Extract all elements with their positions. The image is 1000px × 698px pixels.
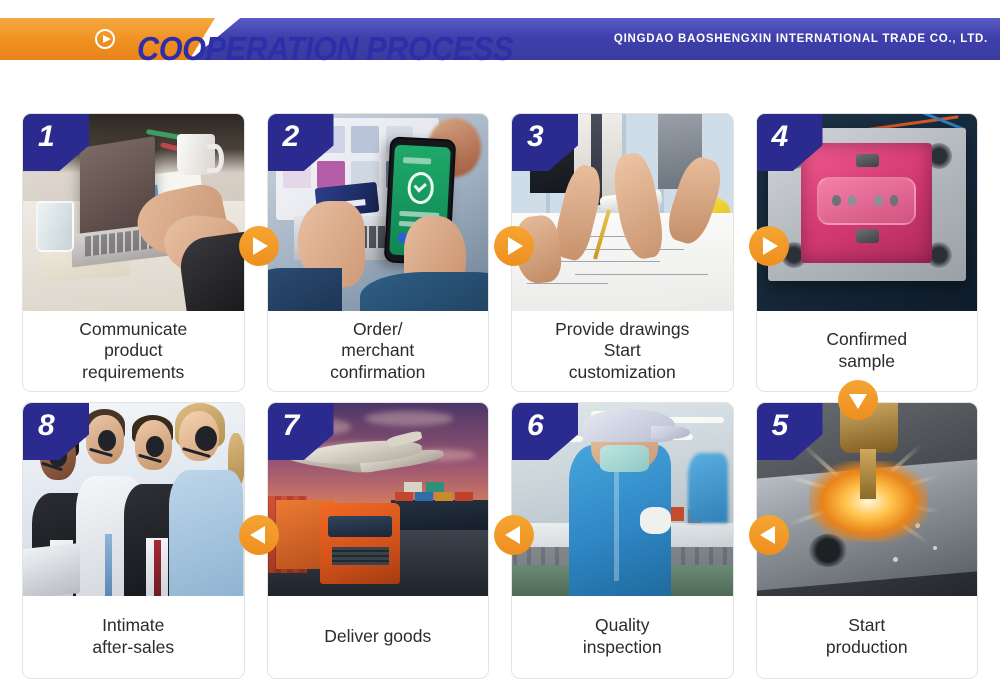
- process-step-5[interactable]: 5 Start production: [756, 402, 979, 679]
- play-icon: [95, 29, 115, 49]
- arrow-left-icon-3: [749, 515, 789, 555]
- step-number: 3: [527, 117, 544, 157]
- process-row-bottom: 8 Intimate after-sales: [22, 402, 978, 679]
- step-7-label: Deliver goods: [268, 596, 489, 678]
- step-number: 1: [38, 117, 55, 157]
- arrow-left-icon-2: [494, 515, 534, 555]
- step-7-image: 7: [268, 403, 489, 596]
- arrow-right-icon-2: [494, 226, 534, 266]
- process-step-4[interactable]: 4 Confirmed sample: [756, 113, 979, 392]
- arrow-left-icon-1: [239, 515, 279, 555]
- step-6-label: Quality inspection: [512, 596, 733, 678]
- step-1-label: Communicate product requirements: [23, 311, 244, 391]
- step-8-image: 8: [23, 403, 244, 596]
- page-header: COOPERATION PROCESS QINGDAO BAOSHENGXIN …: [0, 18, 1000, 60]
- process-row-top: 1 Communicate product requirements: [22, 113, 978, 392]
- process-step-2[interactable]: 2 Order/ merchant confirmation: [267, 113, 490, 392]
- process-step-7[interactable]: 7 Deliver goods: [267, 402, 490, 679]
- step-number: 2: [283, 117, 300, 157]
- process-step-8[interactable]: 8 Intimate after-sales: [22, 402, 245, 679]
- step-number: 5: [772, 406, 789, 446]
- step-number: 4: [772, 117, 789, 157]
- step-6-image: 6: [512, 403, 733, 596]
- step-4-image: 4: [757, 114, 978, 311]
- step-8-label: Intimate after-sales: [23, 596, 244, 678]
- page-title: COOPERATION PROCESS: [137, 32, 513, 65]
- step-number: 6: [527, 406, 544, 446]
- step-5-image: 5: [757, 403, 978, 596]
- arrow-right-icon-1: [239, 226, 279, 266]
- step-3-image: 3: [512, 114, 733, 311]
- step-number: 7: [283, 406, 300, 446]
- arrow-right-icon-3: [749, 226, 789, 266]
- step-5-label: Start production: [757, 596, 978, 678]
- process-grid: 1 Communicate product requirements: [22, 113, 978, 679]
- company-name: QINGDAO BAOSHENGXIN INTERNATIONAL TRADE …: [614, 33, 988, 45]
- step-number: 8: [38, 406, 55, 446]
- step-2-image: 2: [268, 114, 489, 311]
- process-step-6[interactable]: 6 Quality inspection: [511, 402, 734, 679]
- step-2-label: Order/ merchant confirmation: [268, 311, 489, 391]
- process-step-3[interactable]: 3 Provide drawings Start customization: [511, 113, 734, 392]
- step-4-label: Confirmed sample: [757, 311, 978, 391]
- step-1-image: 1: [23, 114, 244, 311]
- step-3-label: Provide drawings Start customization: [512, 311, 733, 391]
- process-step-1[interactable]: 1 Communicate product requirements: [22, 113, 245, 392]
- arrow-down-icon: [838, 380, 878, 420]
